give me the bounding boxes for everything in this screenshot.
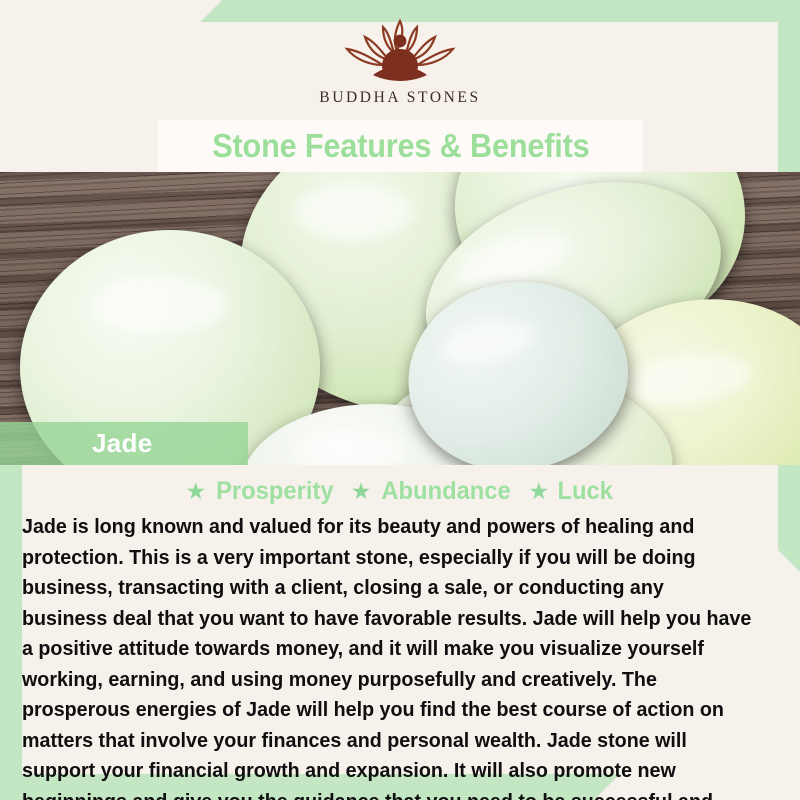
- brand-name: BUDDHA STONES: [319, 89, 480, 107]
- benefit-label: Abundance: [382, 477, 511, 506]
- brand-header: BUDDHA STONES: [0, 0, 800, 120]
- stone-name-band: Jade: [0, 422, 248, 465]
- lotus-meditation-icon: [325, 13, 475, 85]
- benefit-item: ★ Abundance: [351, 477, 515, 506]
- page-title: Stone Features & Benefits: [212, 127, 589, 165]
- stone-description: Jade is long known and valued for its be…: [22, 512, 752, 800]
- star-icon: ★: [529, 480, 550, 503]
- stone-info-card: BUDDHA STONES Stone Features & Benefits: [0, 0, 800, 800]
- benefit-label: Luck: [558, 477, 613, 506]
- benefits-row: ★ Prosperity ★ Abundance ★ Luck: [0, 477, 800, 506]
- benefit-label: Prosperity: [216, 477, 333, 506]
- section-title-band: Stone Features & Benefits: [158, 120, 643, 172]
- stone-name-label: Jade: [92, 428, 152, 459]
- benefit-item: ★ Prosperity: [185, 477, 336, 506]
- benefit-item: ★ Luck: [529, 477, 615, 506]
- star-icon: ★: [185, 480, 206, 503]
- star-icon: ★: [351, 480, 372, 503]
